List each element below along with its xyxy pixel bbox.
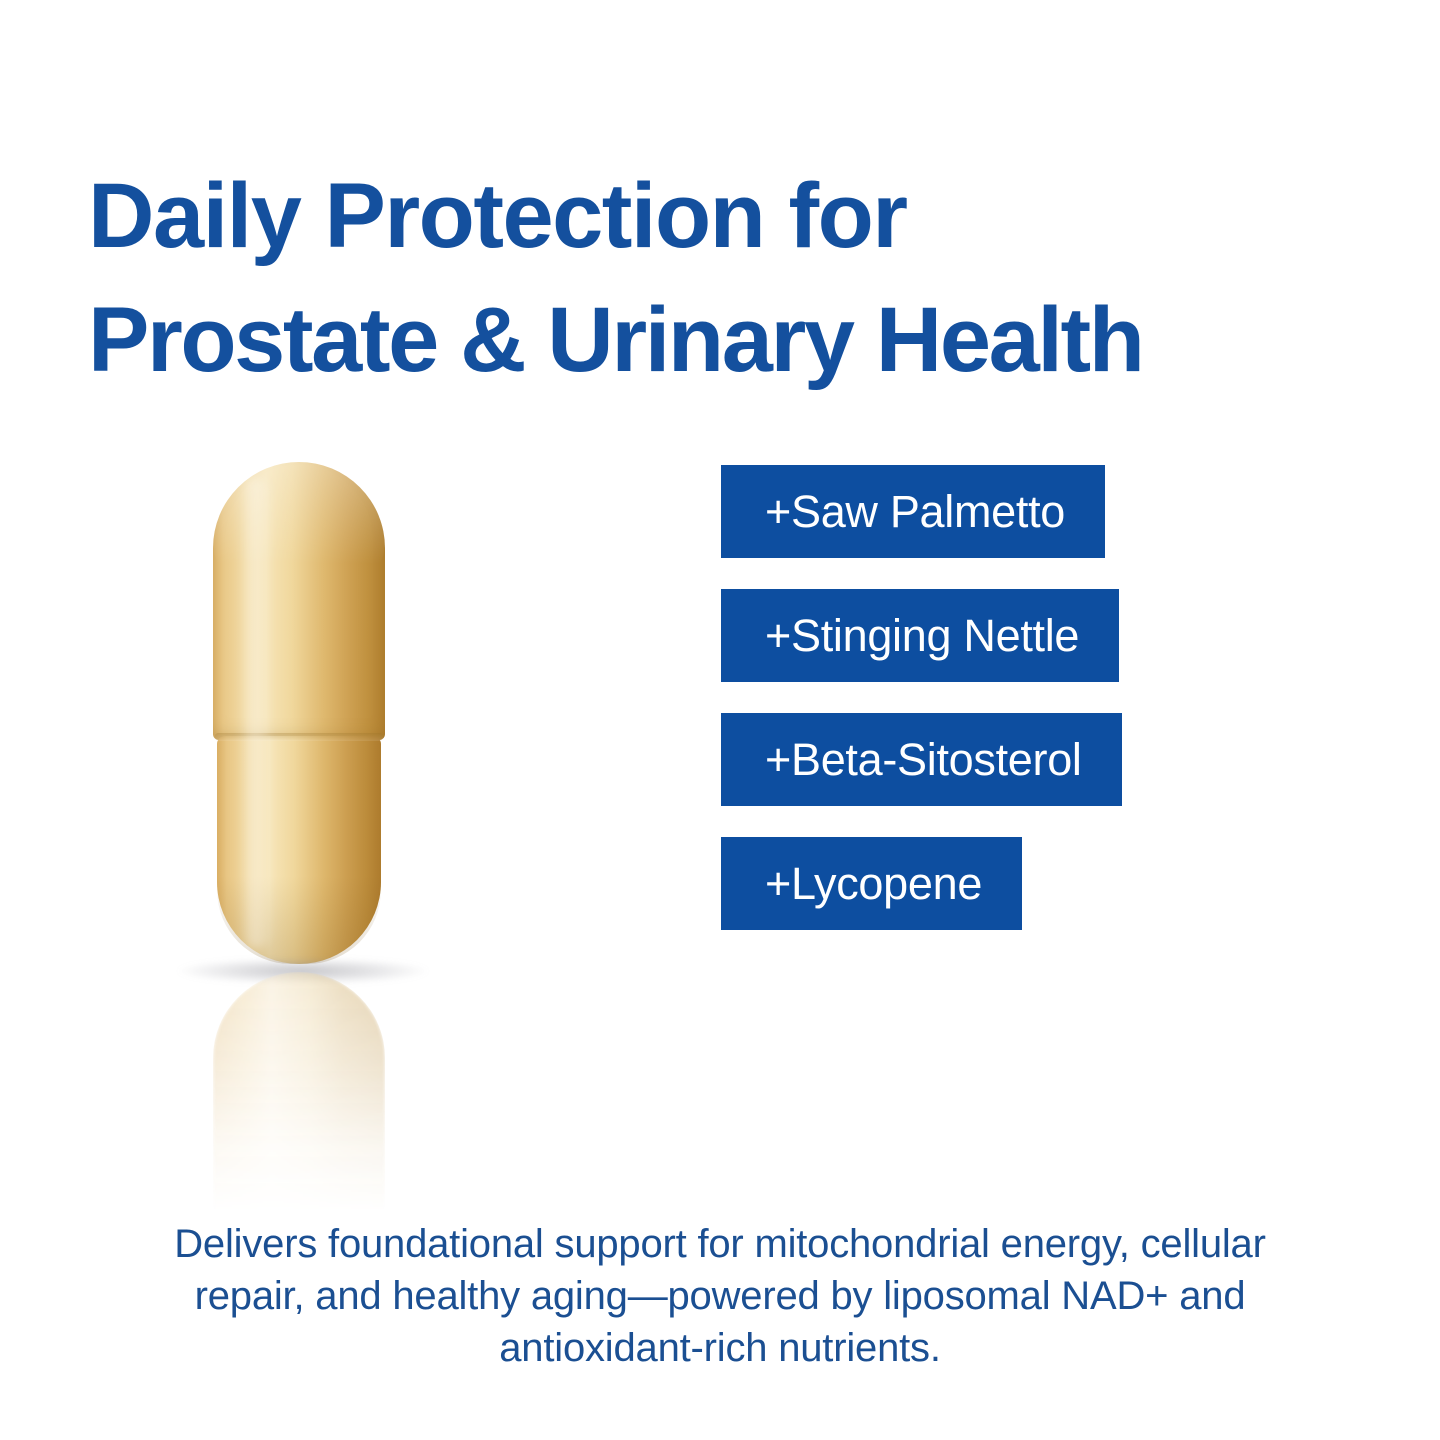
product-image [150, 440, 480, 1230]
badge-row: +Saw Palmetto [721, 465, 1341, 589]
supporting-description: Delivers foundational support for mitoch… [120, 1218, 1320, 1374]
ingredient-badge-saw-palmetto[interactable]: +Saw Palmetto [721, 465, 1105, 558]
headline-line-2: Prostate & Urinary Health [88, 278, 1378, 402]
badge-row: +Stinging Nettle [721, 589, 1341, 713]
badge-row: +Beta-Sitosterol [721, 713, 1341, 837]
marketing-banner: Daily Protection for Prostate & Urinary … [0, 0, 1440, 1440]
ingredient-badge-list: +Saw Palmetto +Stinging Nettle +Beta-Sit… [721, 465, 1341, 961]
ingredient-badge-stinging-nettle[interactable]: +Stinging Nettle [721, 589, 1119, 682]
badge-row: +Lycopene [721, 837, 1341, 961]
ingredient-badge-beta-sitosterol[interactable]: +Beta-Sitosterol [721, 713, 1122, 806]
capsule-highlight [239, 478, 273, 948]
ingredient-badge-lycopene[interactable]: +Lycopene [721, 837, 1022, 930]
capsule-icon [213, 462, 385, 964]
headline-line-1: Daily Protection for [88, 154, 1378, 278]
capsule-reflection [213, 972, 385, 1222]
page-title: Daily Protection for Prostate & Urinary … [88, 154, 1378, 402]
